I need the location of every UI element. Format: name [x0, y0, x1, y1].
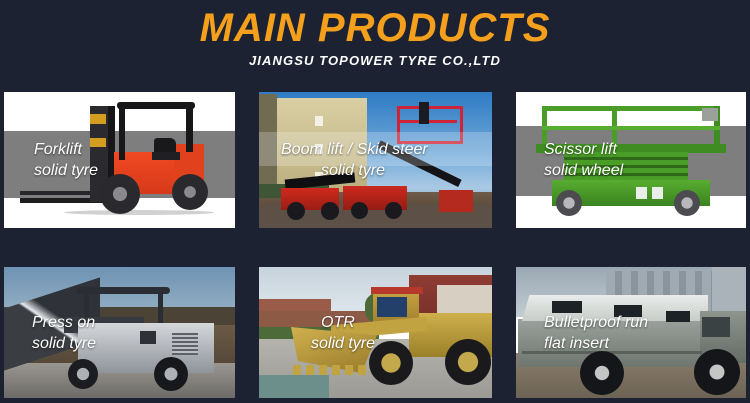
rear-wheel: [154, 357, 188, 391]
front-wheel: [100, 174, 140, 214]
product-card-press-on[interactable]: Press on solid tyre: [4, 267, 235, 398]
machine-wheel: [385, 202, 402, 219]
machine-wheel: [321, 202, 339, 220]
operator-seat-base: [152, 152, 180, 160]
machine-wheel: [351, 202, 368, 219]
water-pond: [259, 375, 329, 398]
rear-wheel: [172, 174, 208, 210]
company-name: JIANGSU TOPOWER TYRE CO.,LTD: [0, 52, 750, 70]
rear-wheel: [445, 339, 491, 385]
cab-glass: [377, 297, 407, 317]
product-image-forklift: [4, 92, 235, 228]
windscreen: [702, 317, 730, 337]
product-image-bulletproof-insert: [516, 267, 746, 398]
cab-post-right: [186, 104, 193, 152]
rear-wheel: [674, 190, 700, 216]
side-window: [140, 331, 156, 344]
product-card-scissor-lift[interactable]: Scissor lift solid wheel: [516, 92, 746, 228]
product-showcase-page: MAIN PRODUCTS JIANGSU TOPOWER TYRE CO.,L…: [0, 0, 750, 403]
rear-wheel: [580, 351, 624, 395]
product-card-otr[interactable]: OTR solid tyre: [259, 267, 492, 398]
chassis-panel: [636, 187, 647, 199]
mast-hydraulic-box-lower: [90, 138, 106, 147]
control-box: [702, 108, 718, 121]
chassis-panel: [652, 187, 663, 199]
front-wheel: [556, 190, 582, 216]
page-header: MAIN PRODUCTS JIANGSU TOPOWER TYRE CO.,L…: [0, 0, 750, 88]
product-card-bulletproof-insert[interactable]: Bulletproof run flat insert: [516, 267, 746, 398]
mast-hydraulic-box-upper: [90, 114, 106, 124]
armour-port-2: [614, 305, 642, 317]
product-card-boom-lift[interactable]: Boom lift / Skid steer solid tyre: [259, 92, 492, 228]
bucket-teeth: [293, 365, 377, 375]
skid-steer-machine: [439, 190, 473, 212]
product-image-otr: [259, 267, 492, 398]
armour-port-1: [552, 301, 582, 313]
engine-vent-grille: [172, 333, 198, 355]
product-image-boom-lift: [259, 92, 492, 228]
product-card-forklift[interactable]: Forklift solid tyre: [4, 92, 235, 228]
building-window: [315, 116, 323, 126]
guardrail-mid-bar: [542, 126, 720, 130]
armour-port-3: [666, 311, 690, 322]
cab-roof: [371, 287, 423, 294]
product-image-scissor-lift: [516, 92, 746, 228]
front-wheel: [369, 341, 413, 385]
ground-shadow: [64, 210, 214, 215]
caption-haze-band: [259, 132, 492, 166]
product-grid: Forklift solid tyre: [4, 92, 746, 399]
page-title: MAIN PRODUCTS: [0, 4, 750, 52]
operator-canopy: [76, 287, 170, 294]
operator-figure: [419, 102, 429, 124]
front-wheel: [694, 349, 740, 395]
machine-wheel: [287, 202, 305, 220]
fork-tine-upper: [20, 191, 96, 195]
product-image-press-on: [4, 267, 235, 398]
cab-post-left: [119, 104, 125, 160]
front-wheel: [68, 359, 98, 389]
guardrail-top: [542, 106, 720, 111]
cab-roof: [117, 102, 195, 109]
